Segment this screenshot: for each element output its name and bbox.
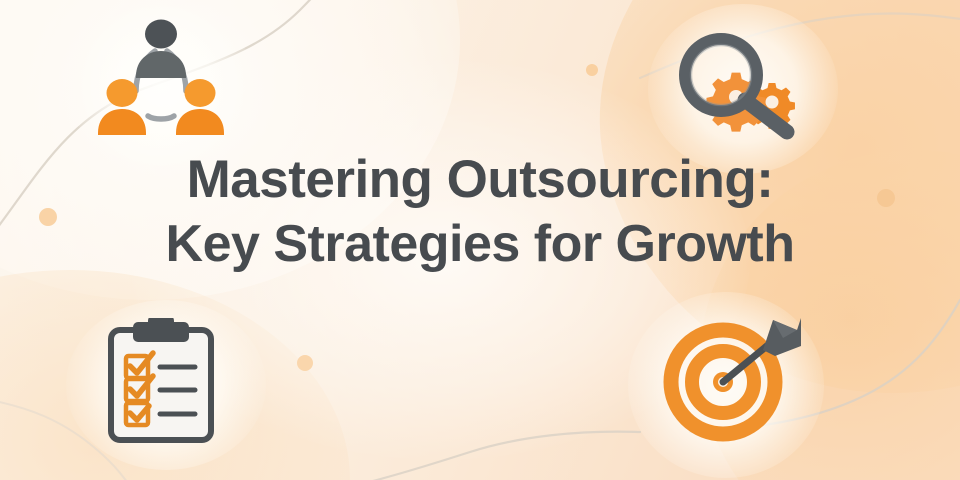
page-title: Mastering Outsourcing: Key Strategies fo… [0,148,960,276]
banner-root: Mastering Outsourcing: Key Strategies fo… [0,0,960,480]
person-orange-left-body [98,109,146,135]
arrow-fletching [763,318,801,356]
person-gray-head [145,20,177,49]
title-line-1: Mastering Outsourcing: [0,148,960,212]
clipboard-clip-top [148,318,174,330]
decor-curve-bottom-left [330,432,640,480]
title-line-2: Key Strategies for Growth [0,212,960,276]
decor-dot-top [586,64,598,76]
person-orange-left-head [107,79,138,107]
target-arrow-icon [655,312,803,452]
clipboard-checklist-icon [105,318,217,446]
decor-dot-center [297,355,313,371]
connector-arc-bottom [148,116,174,119]
person-orange-right-body [176,109,224,135]
person-orange-right-head [185,79,216,107]
team-collaboration-icon [92,18,230,136]
person-gray-body [136,51,186,78]
magnifier-gears-icon [668,26,808,144]
